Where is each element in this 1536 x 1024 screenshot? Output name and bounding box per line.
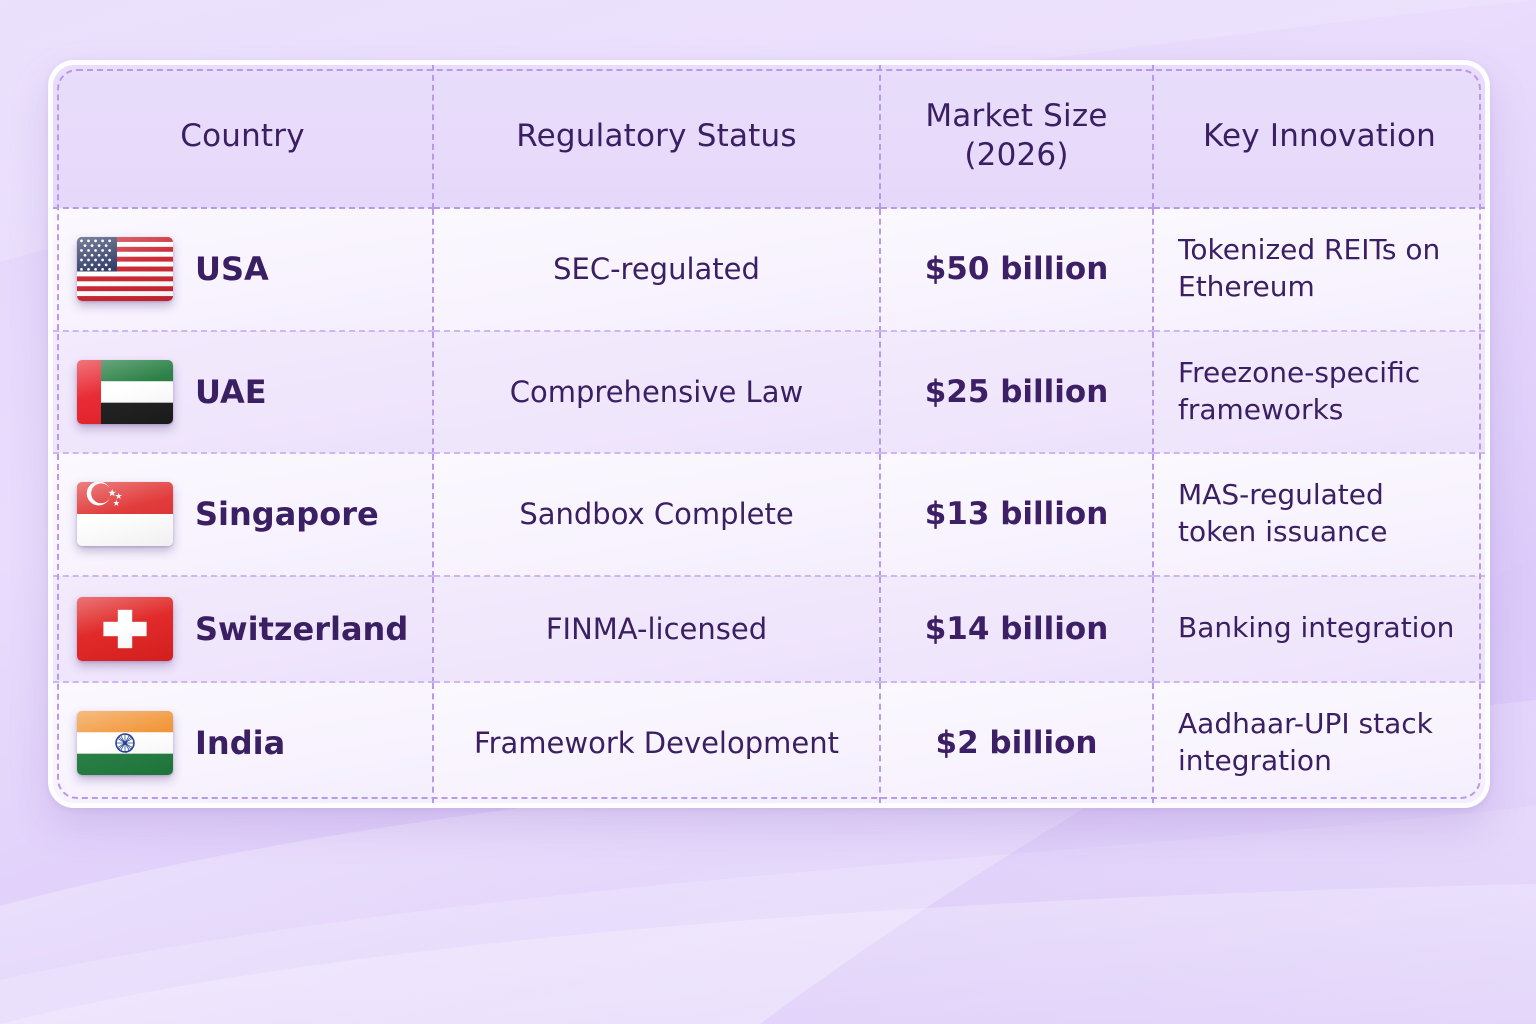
cell-regulatory-status: Comprehensive Law [433,331,880,454]
key-innovation-text: Tokenized REITs on Ethereum [1178,232,1461,306]
column-header-country: Country [53,65,433,208]
cell-key-innovation: Aadhaar-UPI stack integration [1153,682,1485,803]
country-name: USA [195,250,269,288]
regulatory-status-text: FINMA-licensed [458,611,855,647]
country-name: India [195,724,285,762]
cell-market-size: $50 billion [880,208,1153,331]
cell-country: India [53,682,433,803]
country-regulation-table: Country Regulatory Status Market Size (2… [53,65,1485,803]
cell-country: UAE [53,331,433,454]
market-size-value: $14 billion [905,611,1128,647]
cell-market-size: $13 billion [880,453,1153,576]
country-name: UAE [195,373,267,411]
cell-regulatory-status: SEC-regulated [433,208,880,331]
flag-singapore-icon [77,482,173,546]
column-header-key-innovation: Key Innovation [1153,65,1485,208]
market-size-value: $2 billion [905,725,1128,761]
cell-key-innovation: Freezone-specific frameworks [1153,331,1485,454]
country-cell: UAE [77,360,408,424]
column-header-regulatory-status-label: Regulatory Status [516,118,796,154]
flag-uae-icon [77,360,173,424]
cell-key-innovation: MAS-regulated token issuance [1153,453,1485,576]
flag-india-icon [77,711,173,775]
column-header-market-size-sublabel: (2026) [893,136,1140,175]
header-row: Country Regulatory Status Market Size (2… [53,65,1485,208]
country-cell: India [77,711,408,775]
key-innovation-text: MAS-regulated token issuance [1178,477,1461,551]
market-size-value: $50 billion [905,251,1128,287]
country-cell: Singapore [77,482,408,546]
regulatory-status-text: Comprehensive Law [458,374,855,410]
cell-country: USA [53,208,433,331]
table-row: Switzerland FINMA-licensed $14 billion B… [53,576,1485,683]
country-cell: USA [77,237,408,301]
table-row: USA SEC-regulated $50 billion Tokenized … [53,208,1485,331]
table-row: Singapore Sandbox Complete $13 billion M… [53,453,1485,576]
column-header-market-size: Market Size (2026) [880,65,1153,208]
column-header-country-label: Country [180,118,305,154]
country-cell: Switzerland [77,597,408,661]
cell-market-size: $14 billion [880,576,1153,683]
flag-switzerland-icon [77,597,173,661]
regulatory-status-text: Sandbox Complete [458,496,855,532]
country-name: Switzerland [195,610,408,648]
cell-regulatory-status: FINMA-licensed [433,576,880,683]
market-size-value: $25 billion [905,374,1128,410]
cell-market-size: $2 billion [880,682,1153,803]
market-size-value: $13 billion [905,496,1128,532]
cell-regulatory-status: Sandbox Complete [433,453,880,576]
key-innovation-text: Aadhaar-UPI stack integration [1178,706,1461,780]
table-body: USA SEC-regulated $50 billion Tokenized … [53,208,1485,803]
column-header-regulatory-status: Regulatory Status [433,65,880,208]
cell-regulatory-status: Framework Development [433,682,880,803]
key-innovation-text: Banking integration [1178,610,1461,647]
cell-market-size: $25 billion [880,331,1153,454]
column-header-market-size-label: Market Size [925,98,1107,134]
cell-key-innovation: Banking integration [1153,576,1485,683]
column-header-key-innovation-label: Key Innovation [1203,118,1436,154]
regulatory-status-text: SEC-regulated [458,251,855,287]
table-row: UAE Comprehensive Law $25 billion Freezo… [53,331,1485,454]
key-innovation-text: Freezone-specific frameworks [1178,355,1461,429]
cell-country: Singapore [53,453,433,576]
country-name: Singapore [195,495,379,533]
flag-usa-icon [77,237,173,301]
comparison-table-card: Country Regulatory Status Market Size (2… [48,60,1490,808]
table-header: Country Regulatory Status Market Size (2… [53,65,1485,208]
cell-key-innovation: Tokenized REITs on Ethereum [1153,208,1485,331]
table-row: India Framework Development $2 billion A… [53,682,1485,803]
regulatory-status-text: Framework Development [458,725,855,761]
cell-country: Switzerland [53,576,433,683]
